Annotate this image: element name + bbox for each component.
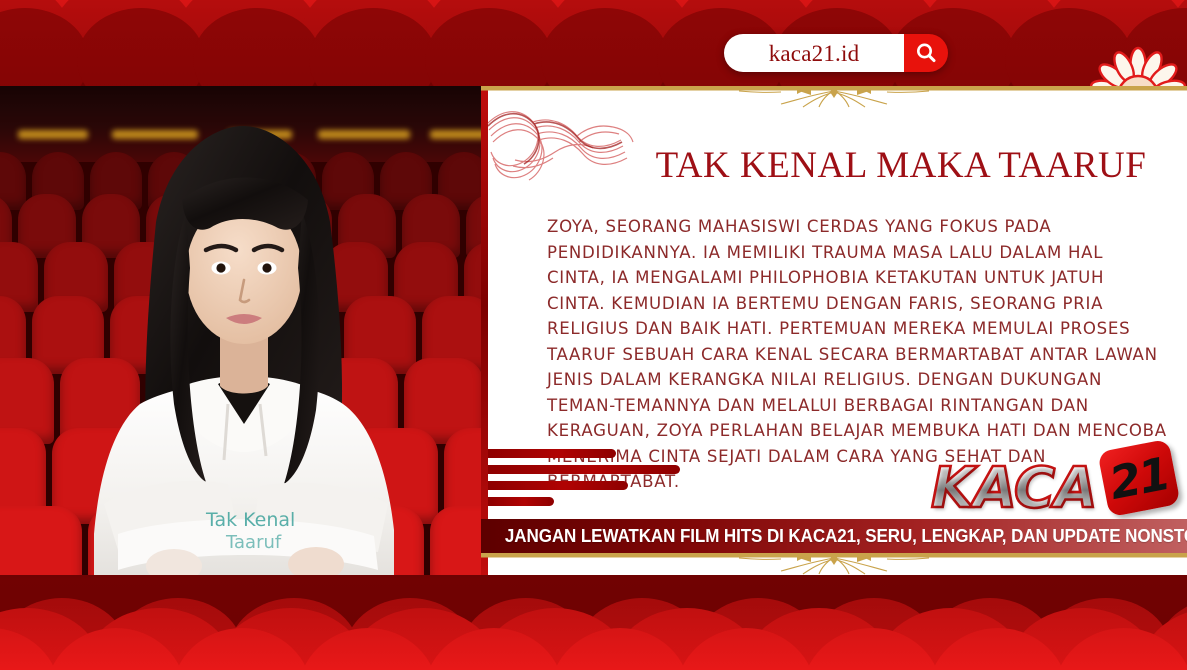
red-ribbon-swirl-icon bbox=[485, 102, 635, 197]
movie-title: TAK KENAL MAKA TAARUF bbox=[631, 144, 1171, 187]
kaca21-logo-badge: 21 bbox=[1097, 439, 1180, 518]
curtain-scallop bbox=[298, 628, 438, 670]
poster-stage: kaca21.id bbox=[0, 0, 1187, 670]
curtain-scallop bbox=[172, 628, 312, 670]
promo-banner-text: JANGAN LEWATKAN FILM HITS DI KACA21, SER… bbox=[481, 525, 1187, 547]
curtain-scallop bbox=[928, 628, 1068, 670]
red-speed-lines-icon bbox=[488, 445, 748, 515]
synopsis-card: TAK KENAL MAKA TAARUF Zoya, seorang maha… bbox=[481, 86, 1187, 575]
curtain-scallop bbox=[1054, 628, 1187, 670]
hoodie-print-line2: Taaruf bbox=[225, 532, 282, 553]
curtain-scallop-row bbox=[0, 628, 1187, 670]
search-input[interactable]: kaca21.id bbox=[724, 34, 904, 72]
curtain-scallop bbox=[424, 628, 564, 670]
cinema-seat bbox=[0, 506, 82, 575]
promo-banner: JANGAN LEWATKAN FILM HITS DI KACA21, SER… bbox=[481, 519, 1187, 553]
curtain-scallop bbox=[802, 628, 942, 670]
search-button[interactable] bbox=[904, 34, 948, 72]
curtain-scallop bbox=[676, 628, 816, 670]
curtain-scallop bbox=[550, 628, 690, 670]
ceiling-light bbox=[430, 130, 481, 139]
person-figure: Tak Kenal Taaruf bbox=[78, 104, 408, 575]
kaca21-logo-badge-number: 21 bbox=[1106, 450, 1172, 505]
search-input-value: kaca21.id bbox=[769, 42, 860, 65]
curtain-scallop bbox=[0, 628, 60, 670]
search-icon bbox=[914, 41, 938, 65]
curtain-scallop bbox=[46, 628, 186, 670]
cinema-seat bbox=[430, 506, 481, 575]
kaca21-logo[interactable]: KACA 21 bbox=[931, 447, 1171, 523]
cinema-photo: Tak Kenal Taaruf 14 bbox=[0, 86, 481, 575]
hoodie-print-line1: Tak Kenal bbox=[205, 509, 295, 531]
search-bar[interactable]: kaca21.id bbox=[724, 34, 948, 72]
kaca21-logo-word: KACA bbox=[931, 461, 1096, 517]
gold-filigree-divider-bottom-icon bbox=[481, 553, 1187, 575]
